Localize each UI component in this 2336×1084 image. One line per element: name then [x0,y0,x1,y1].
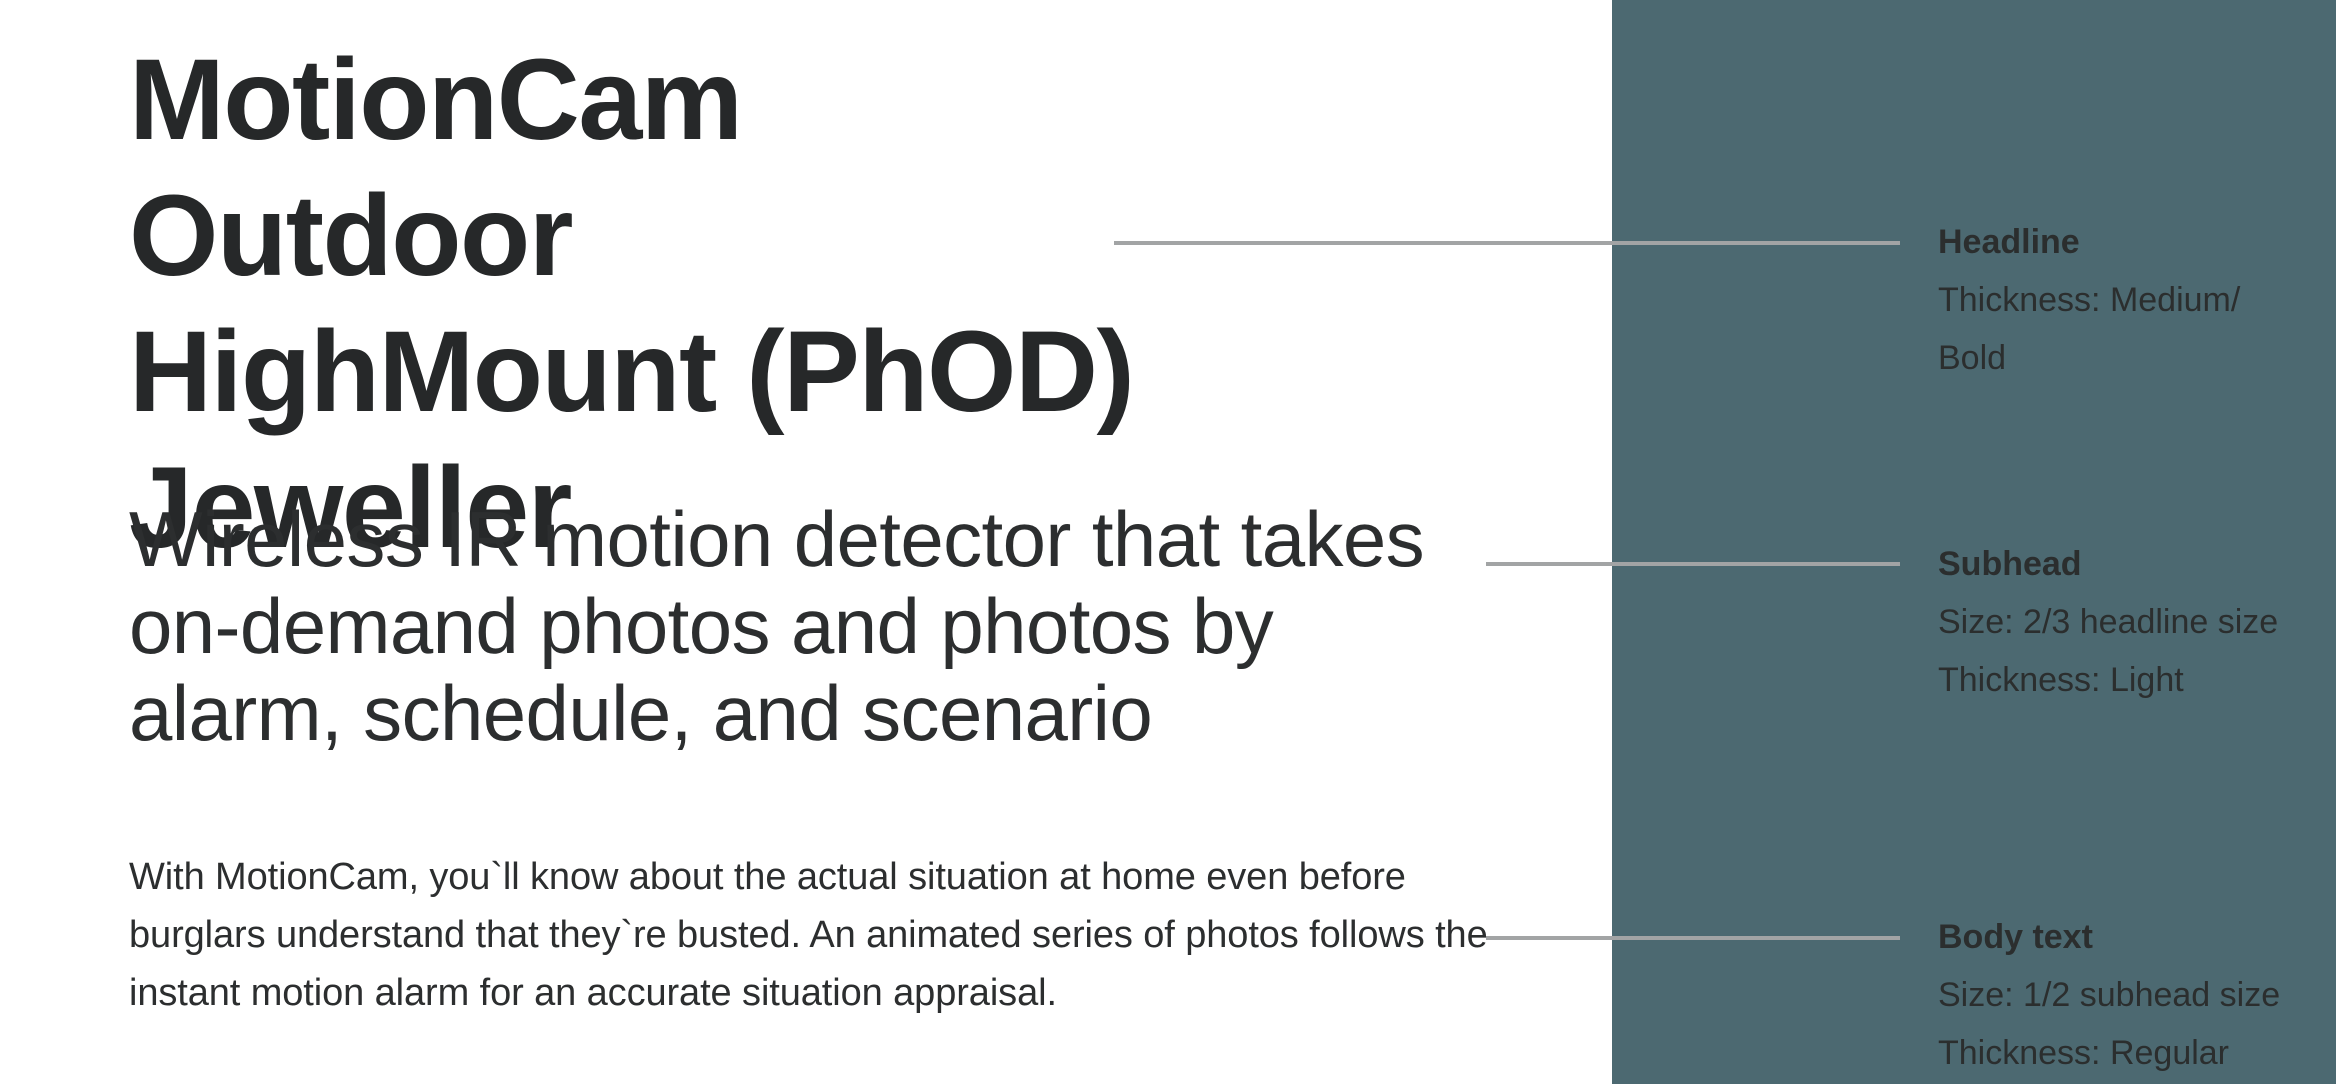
leader-line-subhead [1486,562,1900,566]
annotation-body-text-line-1: Size: 1/2 subhead size [1938,966,2336,1024]
annotation-headline: Headline Thickness: Medium/ Bold [1938,213,2336,387]
annotation-body-text-line-2: Thickness: Regular [1938,1024,2336,1082]
annotation-subhead-line-2: Thickness: Light [1938,651,2336,709]
annotation-headline-line-1: Thickness: Medium/ [1938,271,2336,329]
annotation-subhead: Subhead Size: 2/3 headline size Thicknes… [1938,535,2336,709]
annotation-headline-title: Headline [1938,213,2336,271]
typography-spec-slide: MotionCam Outdoor HighMount (PhOD) Jewel… [0,0,2336,1084]
sample-subhead: Wireless IR motion detector that takes o… [129,496,1469,757]
leader-line-headline [1114,241,1900,245]
annotation-subhead-line-1: Size: 2/3 headline size [1938,593,2336,651]
annotation-subhead-title: Subhead [1938,535,2336,593]
annotation-body-text-title: Body text [1938,908,2336,966]
annotation-headline-line-2: Bold [1938,329,2336,387]
leader-line-body-text [1486,936,1900,940]
annotation-body-text: Body text Size: 1/2 subhead size Thickne… [1938,908,2336,1082]
sample-body-text: With MotionCam, you`ll know about the ac… [129,848,1489,1022]
